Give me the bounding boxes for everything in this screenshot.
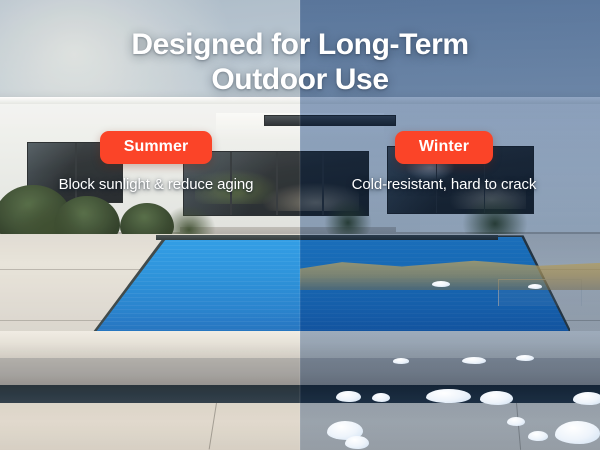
headline-line-1: Designed for Long-Term — [131, 28, 468, 61]
season-caption-row: Block sunlight & reduce aging Cold-resis… — [0, 176, 600, 194]
winter-caption-column: Cold-resistant, hard to crack — [316, 176, 572, 194]
badge-winter[interactable]: Winter — [395, 131, 493, 164]
caption-winter: Cold-resistant, hard to crack — [352, 176, 537, 193]
banner-content: Designed for Long-Term Outdoor Use Summe… — [0, 0, 600, 450]
winter-column: Winter — [316, 131, 572, 164]
caption-summer: Block sunlight & reduce aging — [59, 176, 254, 193]
season-badge-row: Summer Winter — [0, 131, 600, 164]
badge-summer[interactable]: Summer — [100, 131, 213, 164]
headline-line-2: Outdoor Use — [211, 63, 388, 96]
summer-column: Summer — [28, 131, 284, 164]
seasonal-durability-banner: Designed for Long-Term Outdoor Use Summe… — [0, 0, 600, 450]
summer-caption-column: Block sunlight & reduce aging — [28, 176, 284, 194]
page-title: Designed for Long-Term Outdoor Use — [0, 28, 600, 98]
